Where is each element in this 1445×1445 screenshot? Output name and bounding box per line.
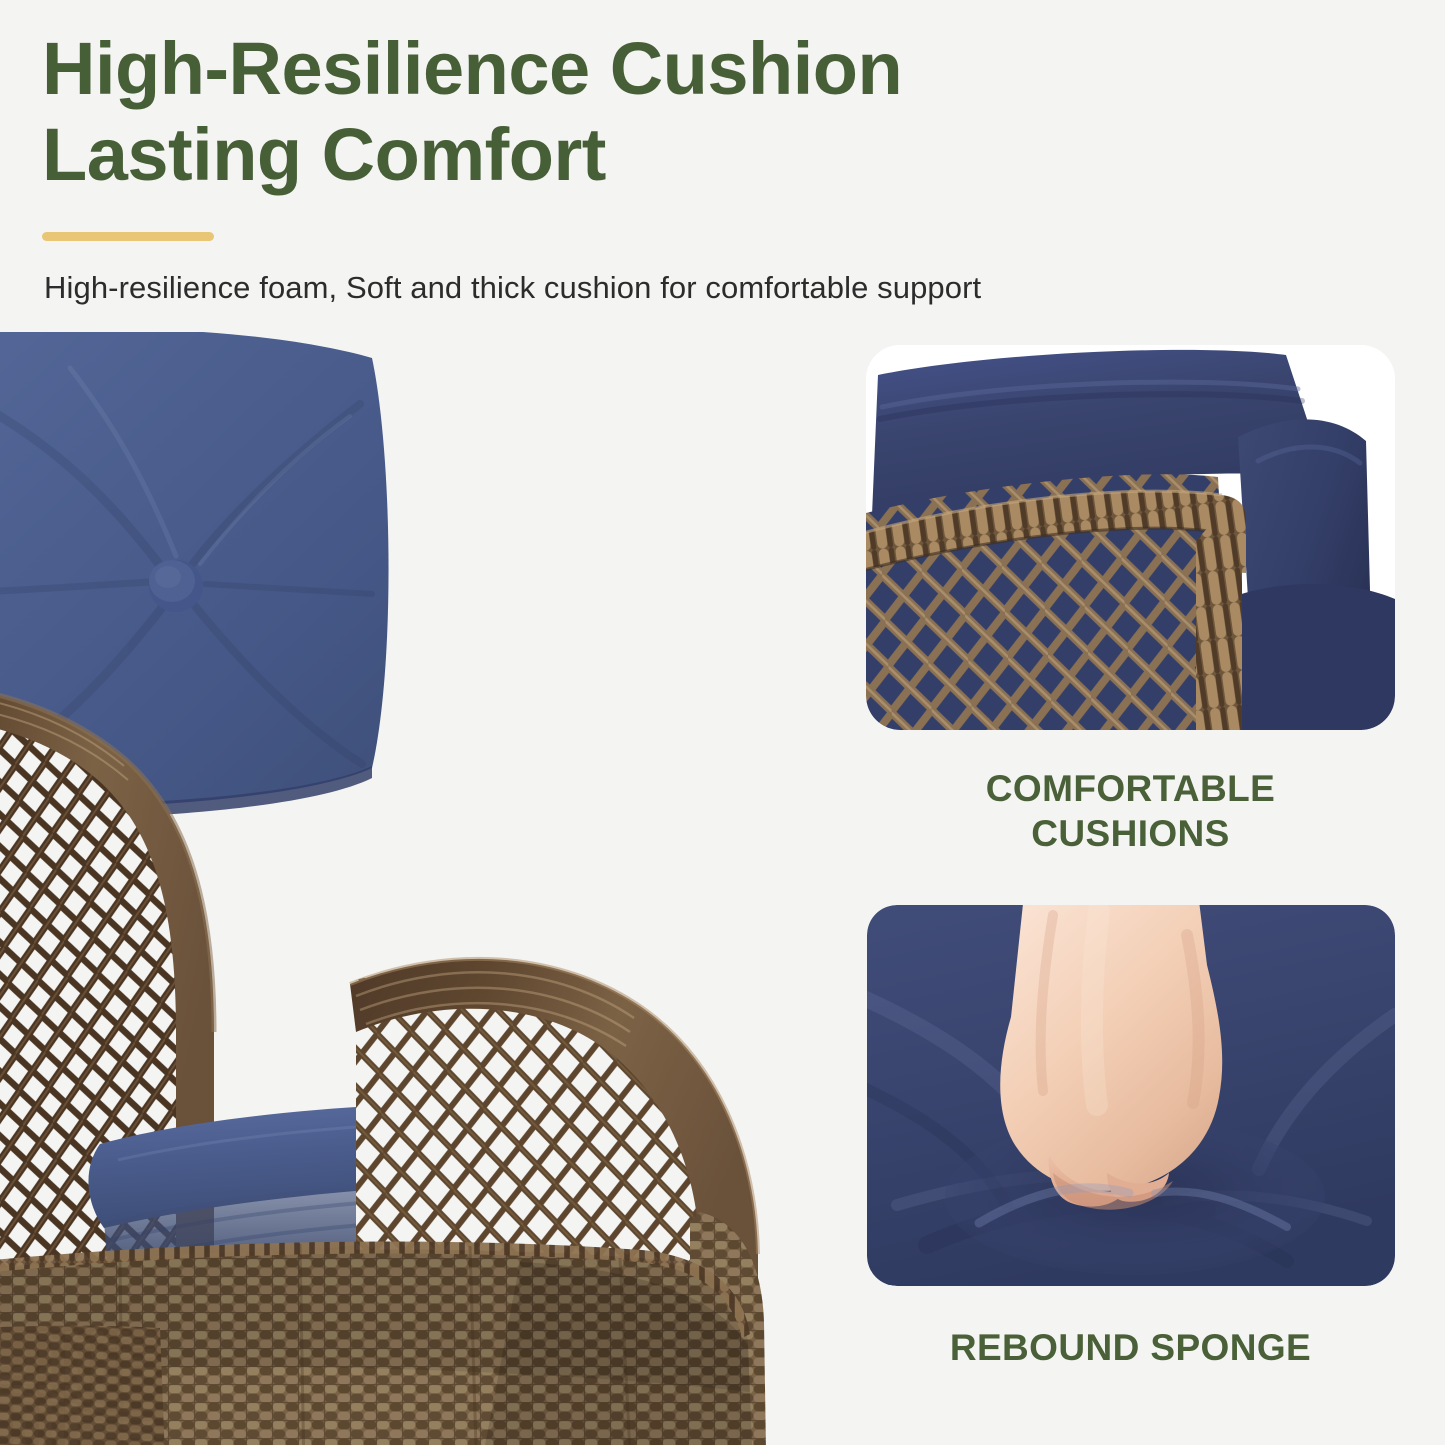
header-block: High-Resilience CushionLasting Comfort bbox=[42, 26, 1142, 198]
comfortable-cushions-image bbox=[866, 345, 1395, 730]
gold-divider bbox=[42, 232, 214, 241]
caption-line-1: COMFORTABLE bbox=[866, 766, 1395, 811]
rebound-sponge-caption: REBOUND SPONGE bbox=[866, 1325, 1395, 1370]
caption-line-2: CUSHIONS bbox=[866, 811, 1395, 856]
hero-product-image bbox=[0, 332, 845, 1445]
rope-post bbox=[1196, 525, 1242, 730]
rebound-sponge-image bbox=[867, 905, 1395, 1286]
cushion-lower-right bbox=[1232, 584, 1395, 730]
page-title: High-Resilience CushionLasting Comfort bbox=[42, 26, 1142, 198]
rebound-sponge-card bbox=[867, 905, 1395, 1286]
headline-line-2: Lasting Comfort bbox=[42, 112, 1142, 198]
comfortable-cushions-caption: COMFORTABLE CUSHIONS bbox=[866, 766, 1395, 856]
chair-left-panel bbox=[0, 1326, 170, 1445]
headline-line-1: High-Resilience Cushion bbox=[42, 27, 902, 110]
caption-line-1: REBOUND SPONGE bbox=[866, 1325, 1395, 1370]
infographic-root: High-Resilience CushionLasting Comfort H… bbox=[0, 0, 1445, 1445]
wicker-chair-illustration bbox=[0, 332, 845, 1445]
comfortable-cushions-card bbox=[866, 345, 1395, 730]
subheadline: High-resilience foam, Soft and thick cus… bbox=[44, 270, 981, 306]
